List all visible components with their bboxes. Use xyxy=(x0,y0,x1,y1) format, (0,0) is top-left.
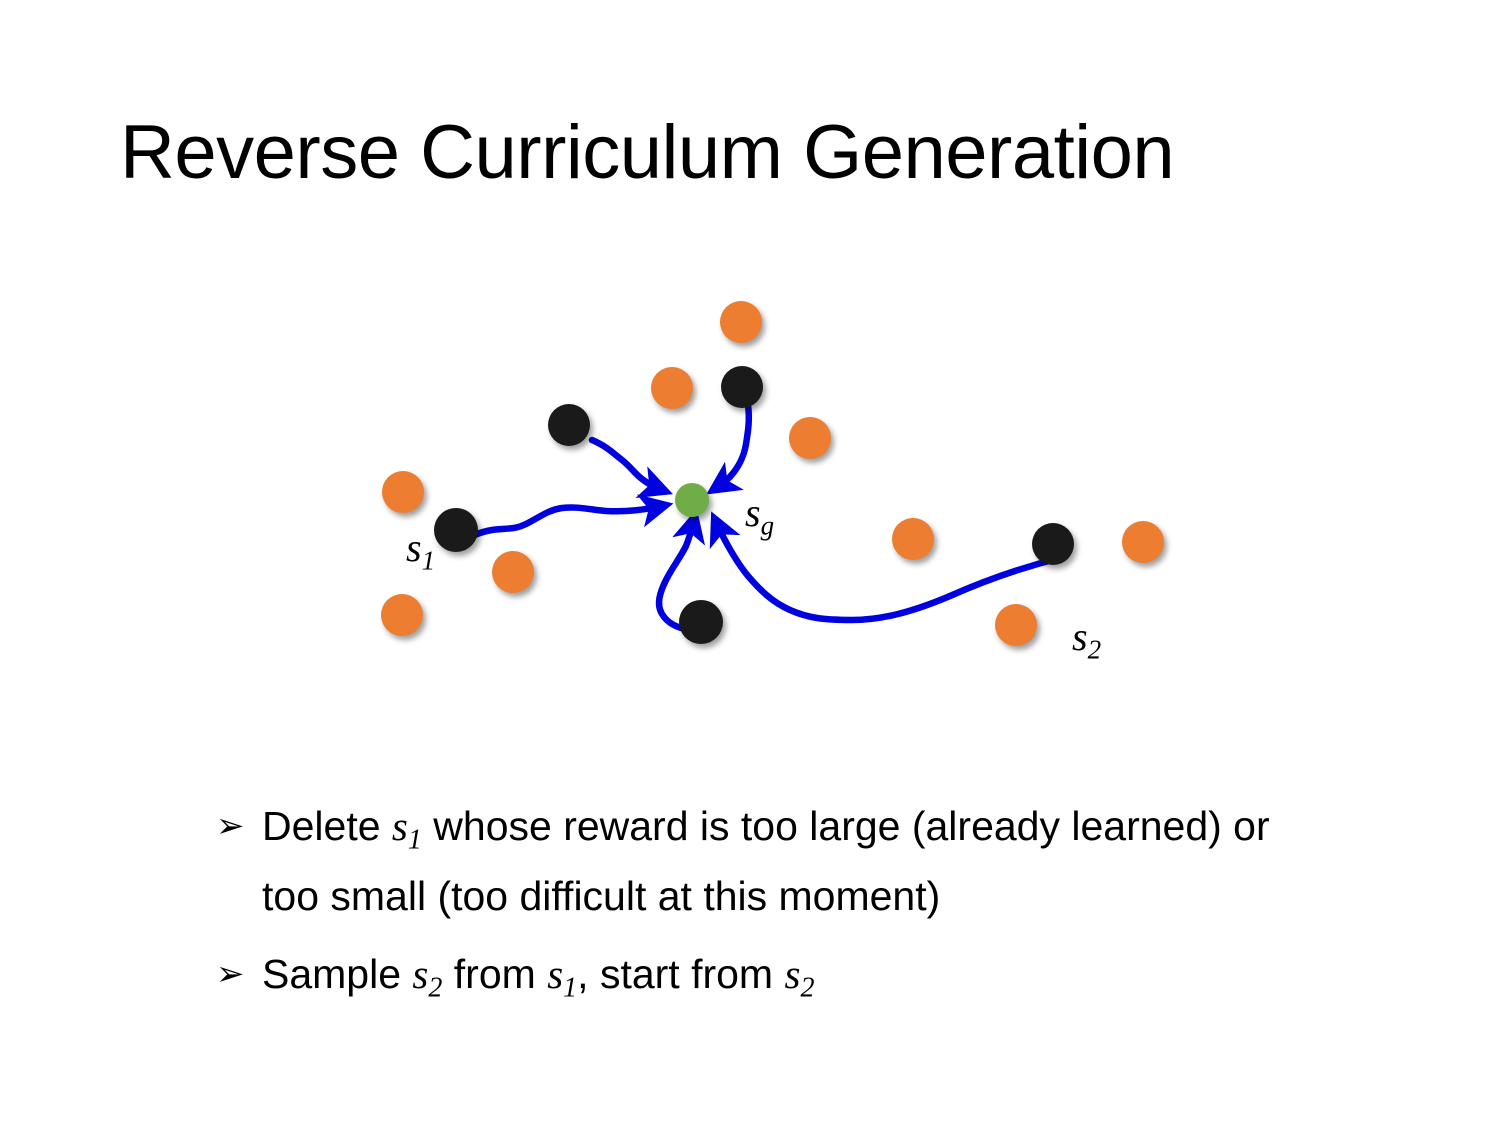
label-sg-base: s xyxy=(745,490,761,535)
label-s2: s2 xyxy=(1072,617,1101,664)
bullet-text-1: Delete s1 whose reward is too large (alr… xyxy=(262,798,1336,924)
state-dot-black-s1 xyxy=(434,508,478,552)
list-item: ➢ Sample s2 from s1, start from s2 xyxy=(216,946,1336,1016)
trajectory-path-3 xyxy=(716,405,749,488)
label-sg: sg xyxy=(745,493,774,540)
state-dot-orange xyxy=(892,518,934,560)
state-dot-orange xyxy=(995,604,1037,646)
bullet-list: ➢ Delete s1 whose reward is too large (a… xyxy=(216,798,1336,1039)
state-dot-orange xyxy=(789,417,831,459)
state-dot-black-s2 xyxy=(1032,523,1074,565)
state-dot-black xyxy=(679,600,723,644)
bullet-text-2: Sample s2 from s1, start from s2 xyxy=(262,946,1336,1016)
trajectory-path-1 xyxy=(592,440,662,490)
bullet-arrow-icon: ➢ xyxy=(216,798,262,854)
reverse-curriculum-state-diagram: s1 sg s2 xyxy=(0,280,1500,710)
state-dot-orange xyxy=(381,594,423,636)
state-dot-orange xyxy=(492,551,534,593)
trajectory-path-2 xyxy=(458,506,662,545)
state-dot-orange xyxy=(382,471,424,513)
state-dot-orange xyxy=(651,367,693,409)
label-sg-sub: g xyxy=(761,511,775,541)
page-title: Reverse Curriculum Generation xyxy=(120,112,1400,194)
state-dot-orange xyxy=(720,301,762,343)
list-item: ➢ Delete s1 whose reward is too large (a… xyxy=(216,798,1336,924)
label-s1: s1 xyxy=(406,528,435,575)
label-s2-base: s xyxy=(1072,614,1088,659)
state-dot-goal-green xyxy=(675,483,709,517)
label-s1-sub: 1 xyxy=(422,546,436,576)
state-dot-orange xyxy=(1122,521,1164,563)
label-s2-sub: 2 xyxy=(1088,635,1102,665)
state-dot-black xyxy=(548,404,590,446)
bullet-arrow-icon: ➢ xyxy=(216,946,262,1002)
label-s1-base: s xyxy=(406,525,422,570)
state-dot-black xyxy=(721,366,763,408)
